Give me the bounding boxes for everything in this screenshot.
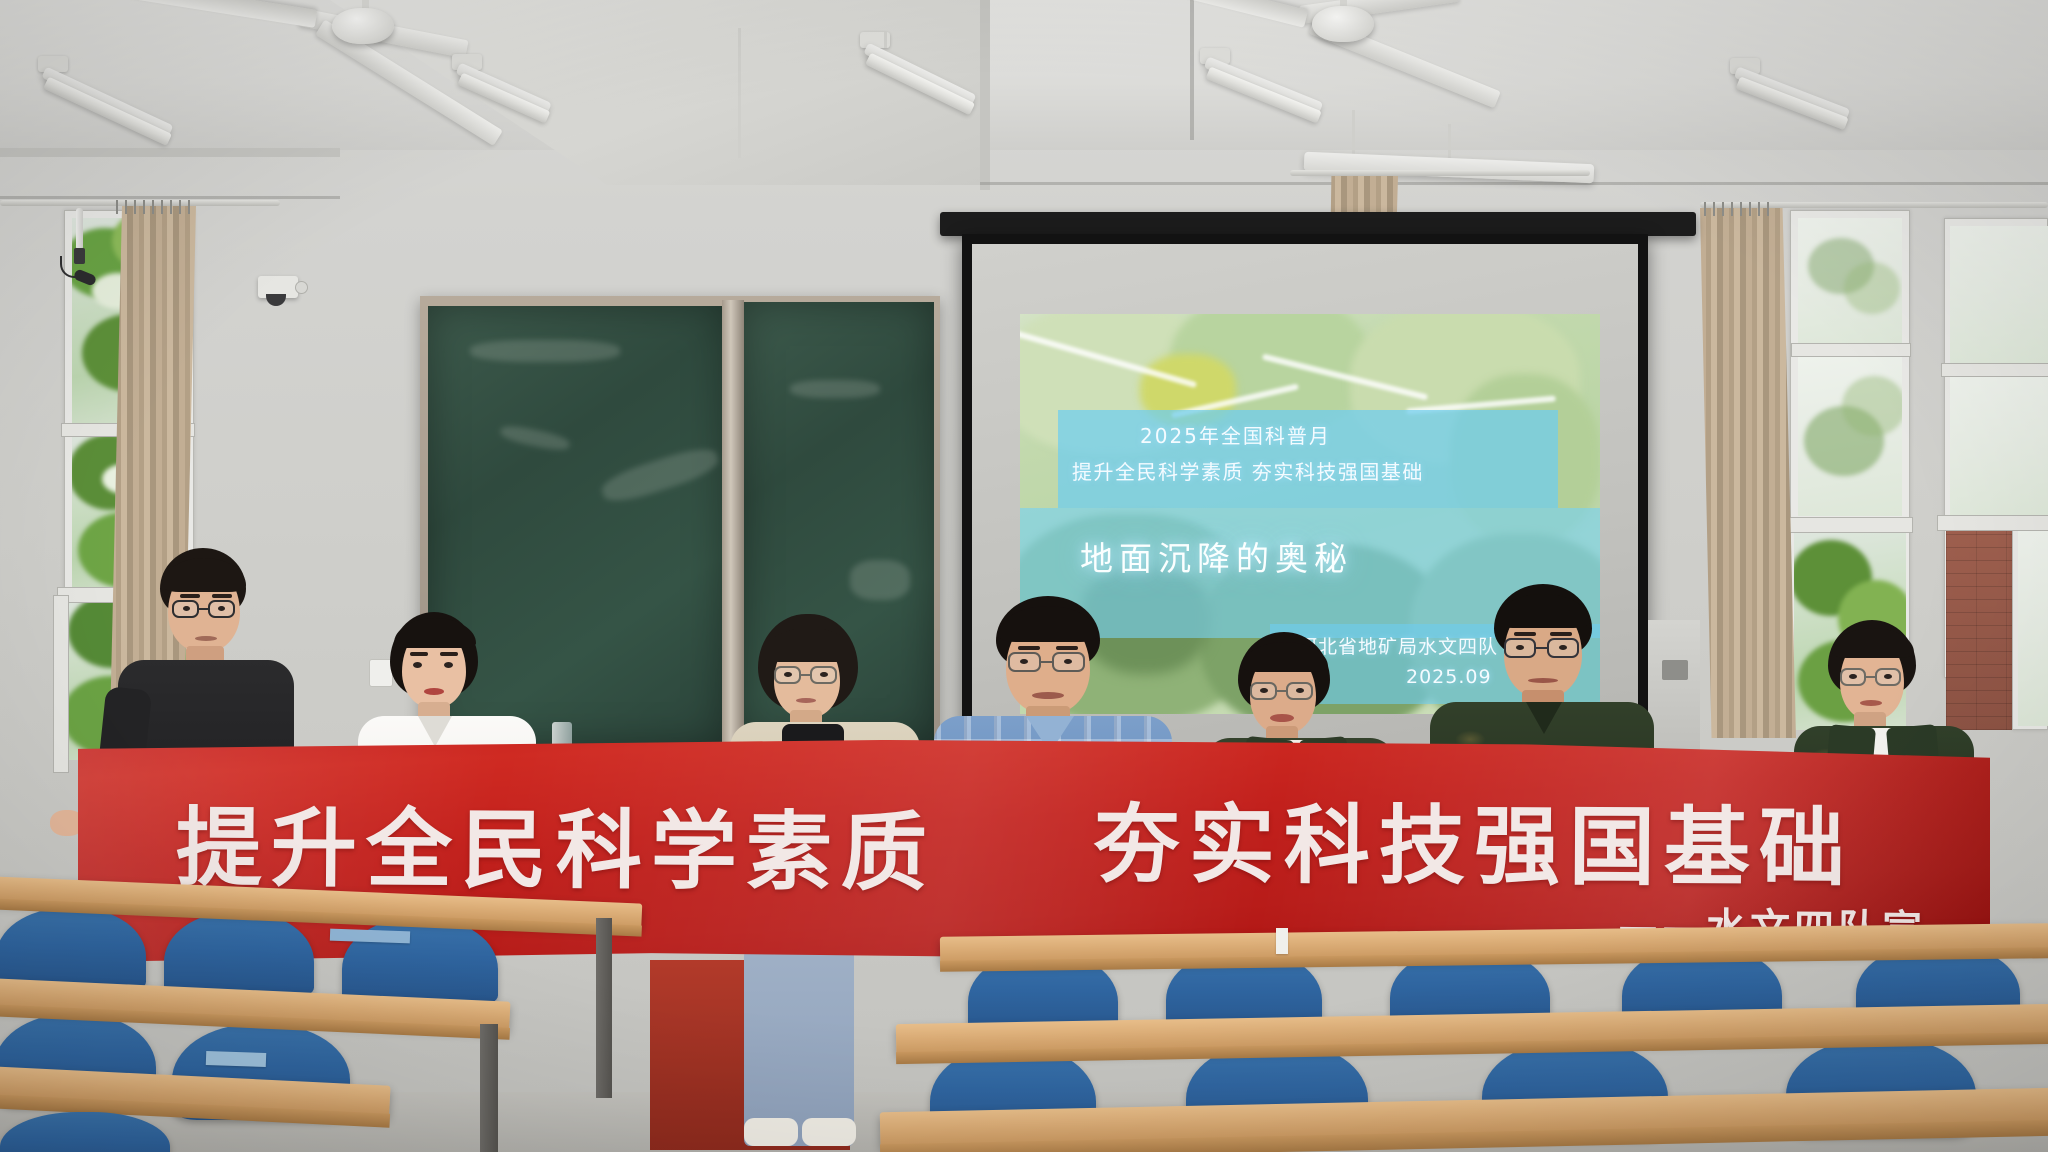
wall-seam-a <box>1190 0 1194 140</box>
curtain-hooks-left <box>116 200 190 214</box>
slide-header-line1: 2025年全国科普月 <box>1140 420 1331 449</box>
screen-side-marker <box>1662 660 1688 680</box>
person-3-legs <box>744 950 854 1146</box>
person-3-shoe-left <box>744 1118 798 1146</box>
slide-header-line2: 提升全民科学素质 夯实科技强国基础 <box>1072 456 1424 485</box>
chair[interactable] <box>164 912 314 998</box>
wall-seam-b <box>980 182 2048 185</box>
window-curtain-right-outer <box>1700 208 1796 738</box>
paper-tag <box>1276 928 1288 954</box>
paper-on-desk-2 <box>206 1051 266 1067</box>
light-hanger-rod-2 <box>884 32 887 48</box>
banner-text-right: 夯实科技强国基础 <box>1094 774 1855 903</box>
curtain-hooks-right <box>1704 202 1772 216</box>
light-hanger-rod <box>738 28 741 158</box>
person-3-shoe-right <box>802 1118 856 1146</box>
curtain-rod-center <box>1290 170 1590 176</box>
hanging-microphone <box>60 208 104 328</box>
ceiling-beam-left <box>0 148 340 157</box>
person-6-glasses <box>1504 638 1582 660</box>
security-camera <box>258 276 306 310</box>
wall-seam-c <box>0 196 340 199</box>
ceiling-beam-right <box>980 0 990 190</box>
person-1-glasses <box>172 600 238 620</box>
classroom-group-photo: 2025年全国科普月 提升全民科学素质 夯实科技强国基础 地面沉降的奥秘 河北省… <box>0 0 2048 1152</box>
slide-main-title: 地面沉降的奥秘 <box>1080 532 1353 580</box>
